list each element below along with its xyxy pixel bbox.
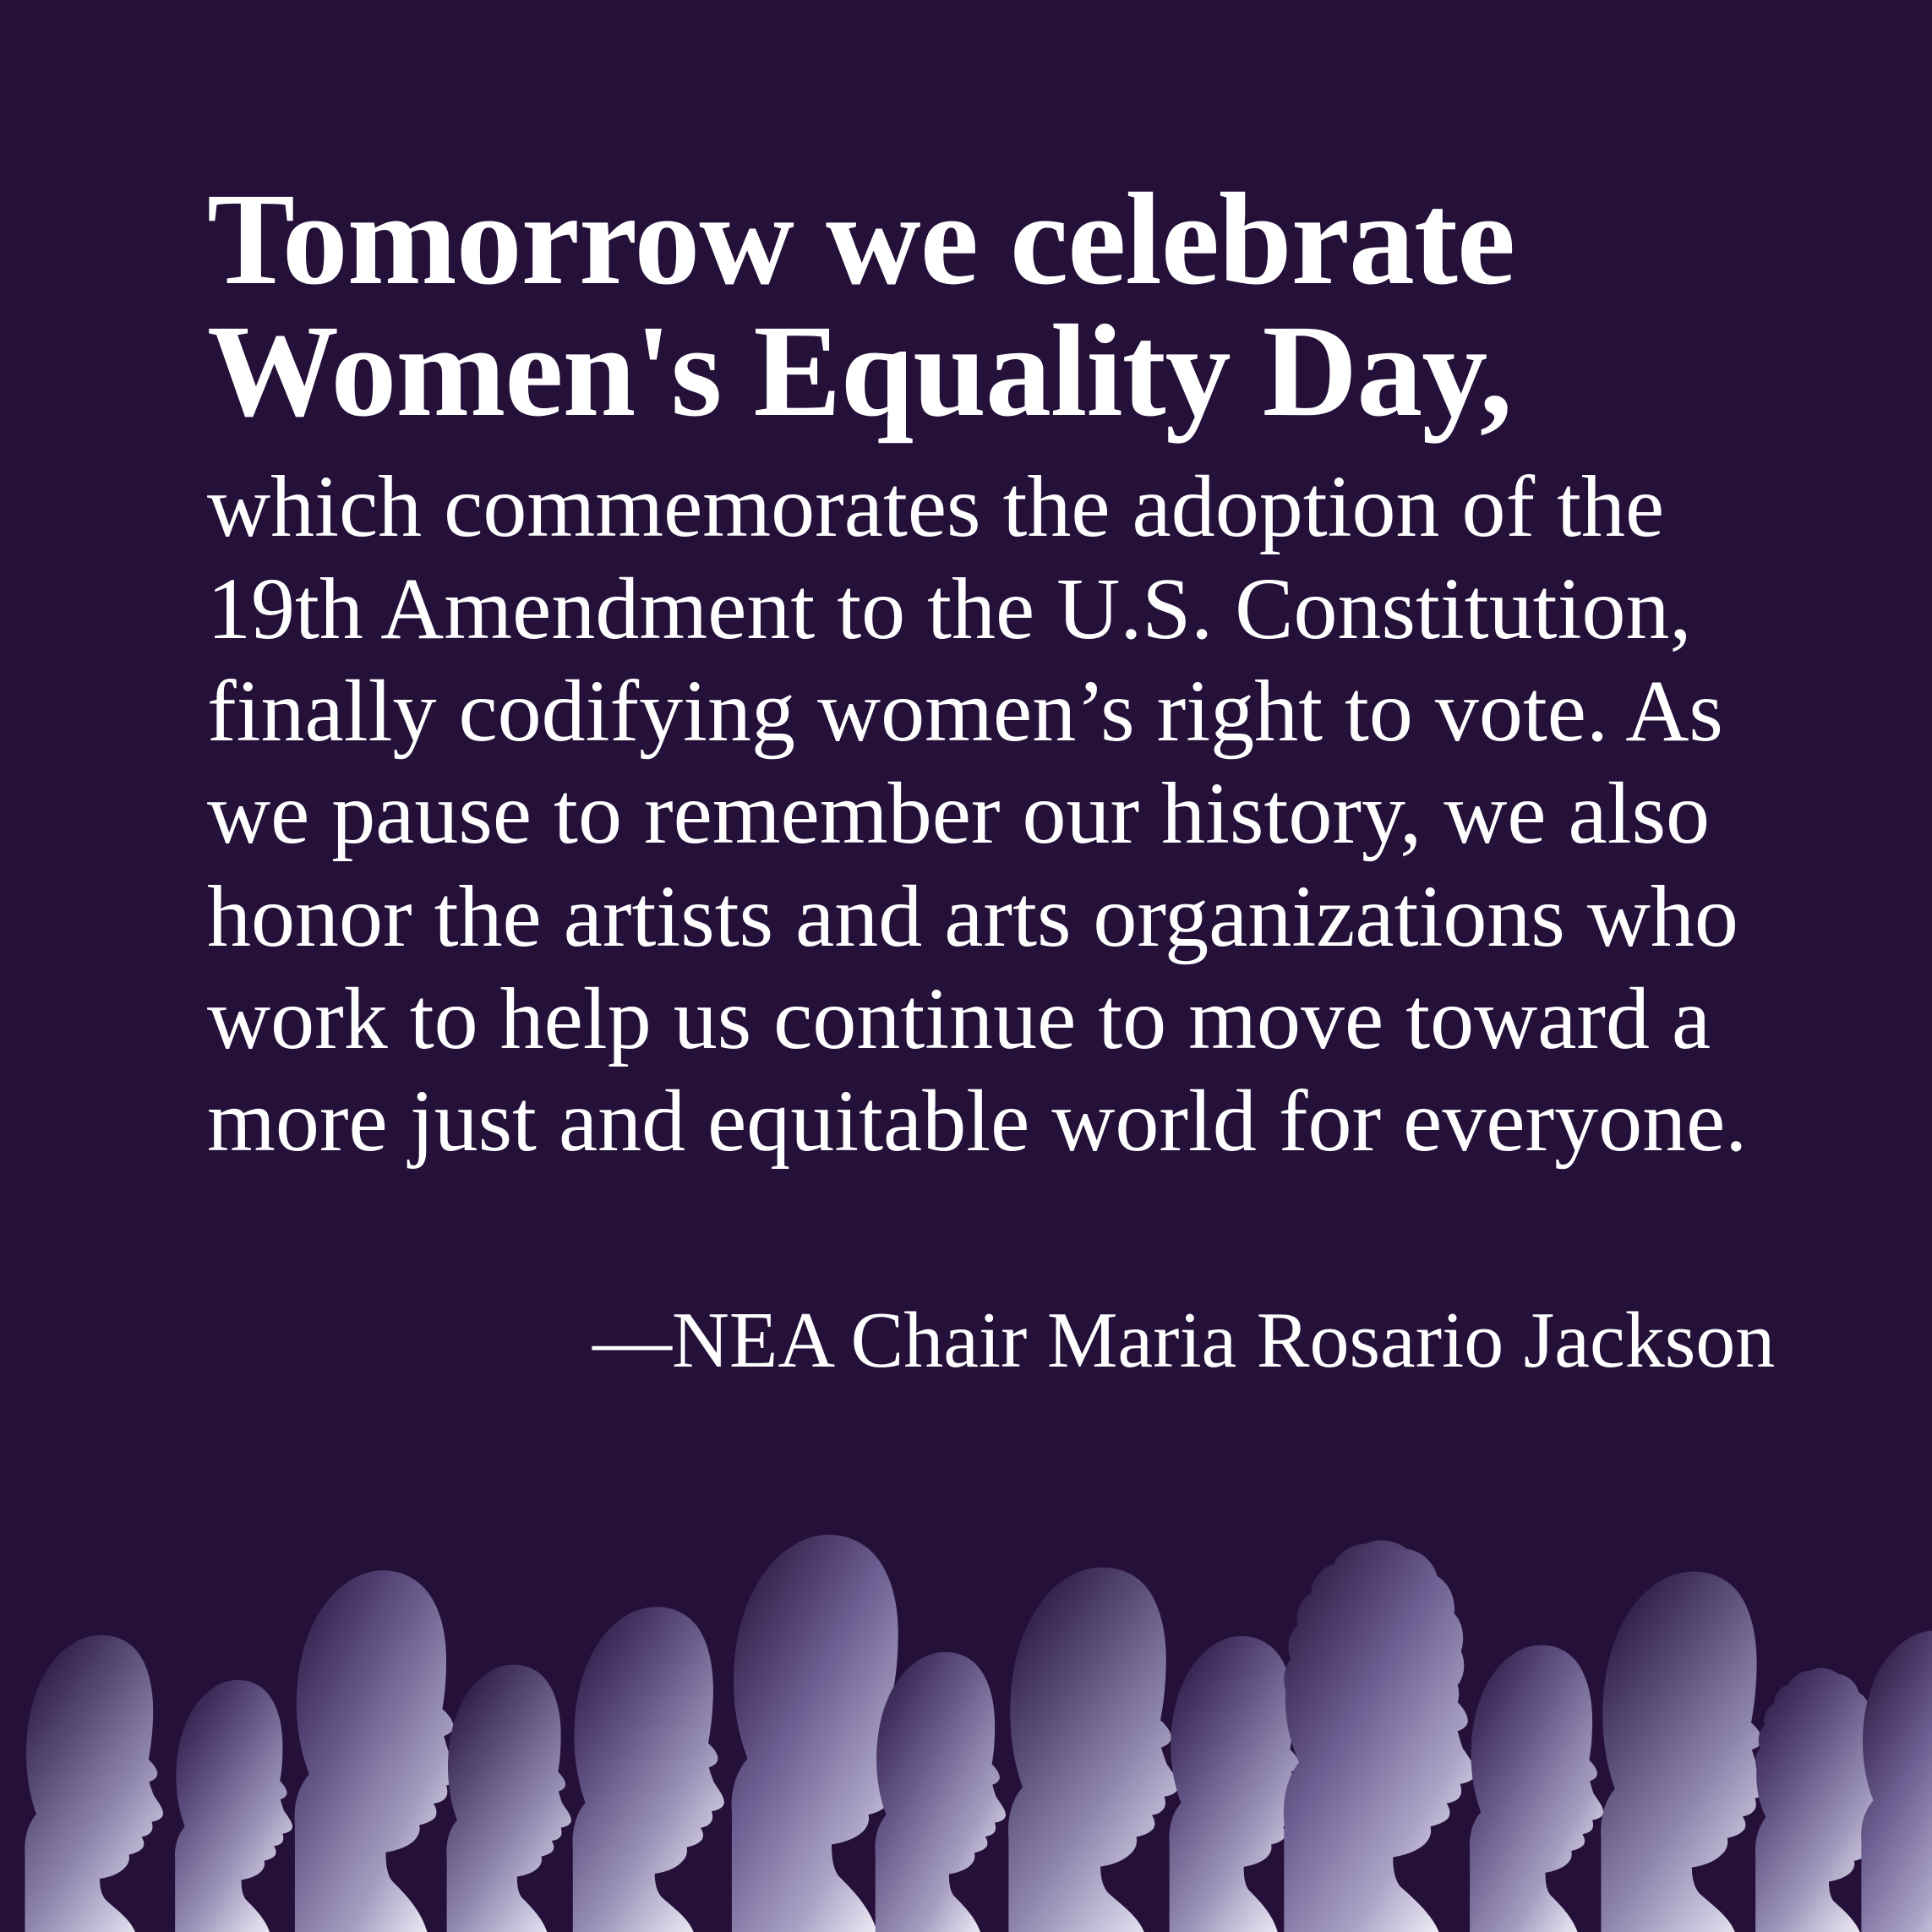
- silhouette-figure: [25, 1635, 163, 1932]
- silhouette-figure: [1601, 1571, 1769, 1932]
- poster-canvas: Tomorrow we celebrate Women's Equality D…: [0, 0, 1932, 1932]
- silhouette-figure: [446, 1665, 571, 1932]
- crowd-back-row: [25, 1535, 1932, 1932]
- silhouette-figure: [572, 1607, 723, 1932]
- silhouette-figure: [875, 1652, 1006, 1932]
- silhouette-figure: [1284, 1540, 1476, 1932]
- silhouette-figure: [295, 1570, 461, 1932]
- silhouette-figure: [1008, 1567, 1178, 1932]
- silhouette-figure: [175, 1680, 292, 1932]
- silhouette-crowd-illustration: [0, 1459, 1932, 1932]
- quote-text-block: Tomorrow we celebrate Women's Equality D…: [207, 173, 1864, 1384]
- quote-body-text: which commemorates the adoption of the 1…: [207, 456, 1864, 1172]
- silhouette-figure: [1470, 1645, 1603, 1932]
- page-title: Tomorrow we celebrate Women's Equality D…: [207, 173, 1864, 437]
- quote-attribution: —NEA Chair Maria Rosario Jackson: [592, 1297, 1864, 1384]
- silhouette-figure: [1861, 1630, 1932, 1932]
